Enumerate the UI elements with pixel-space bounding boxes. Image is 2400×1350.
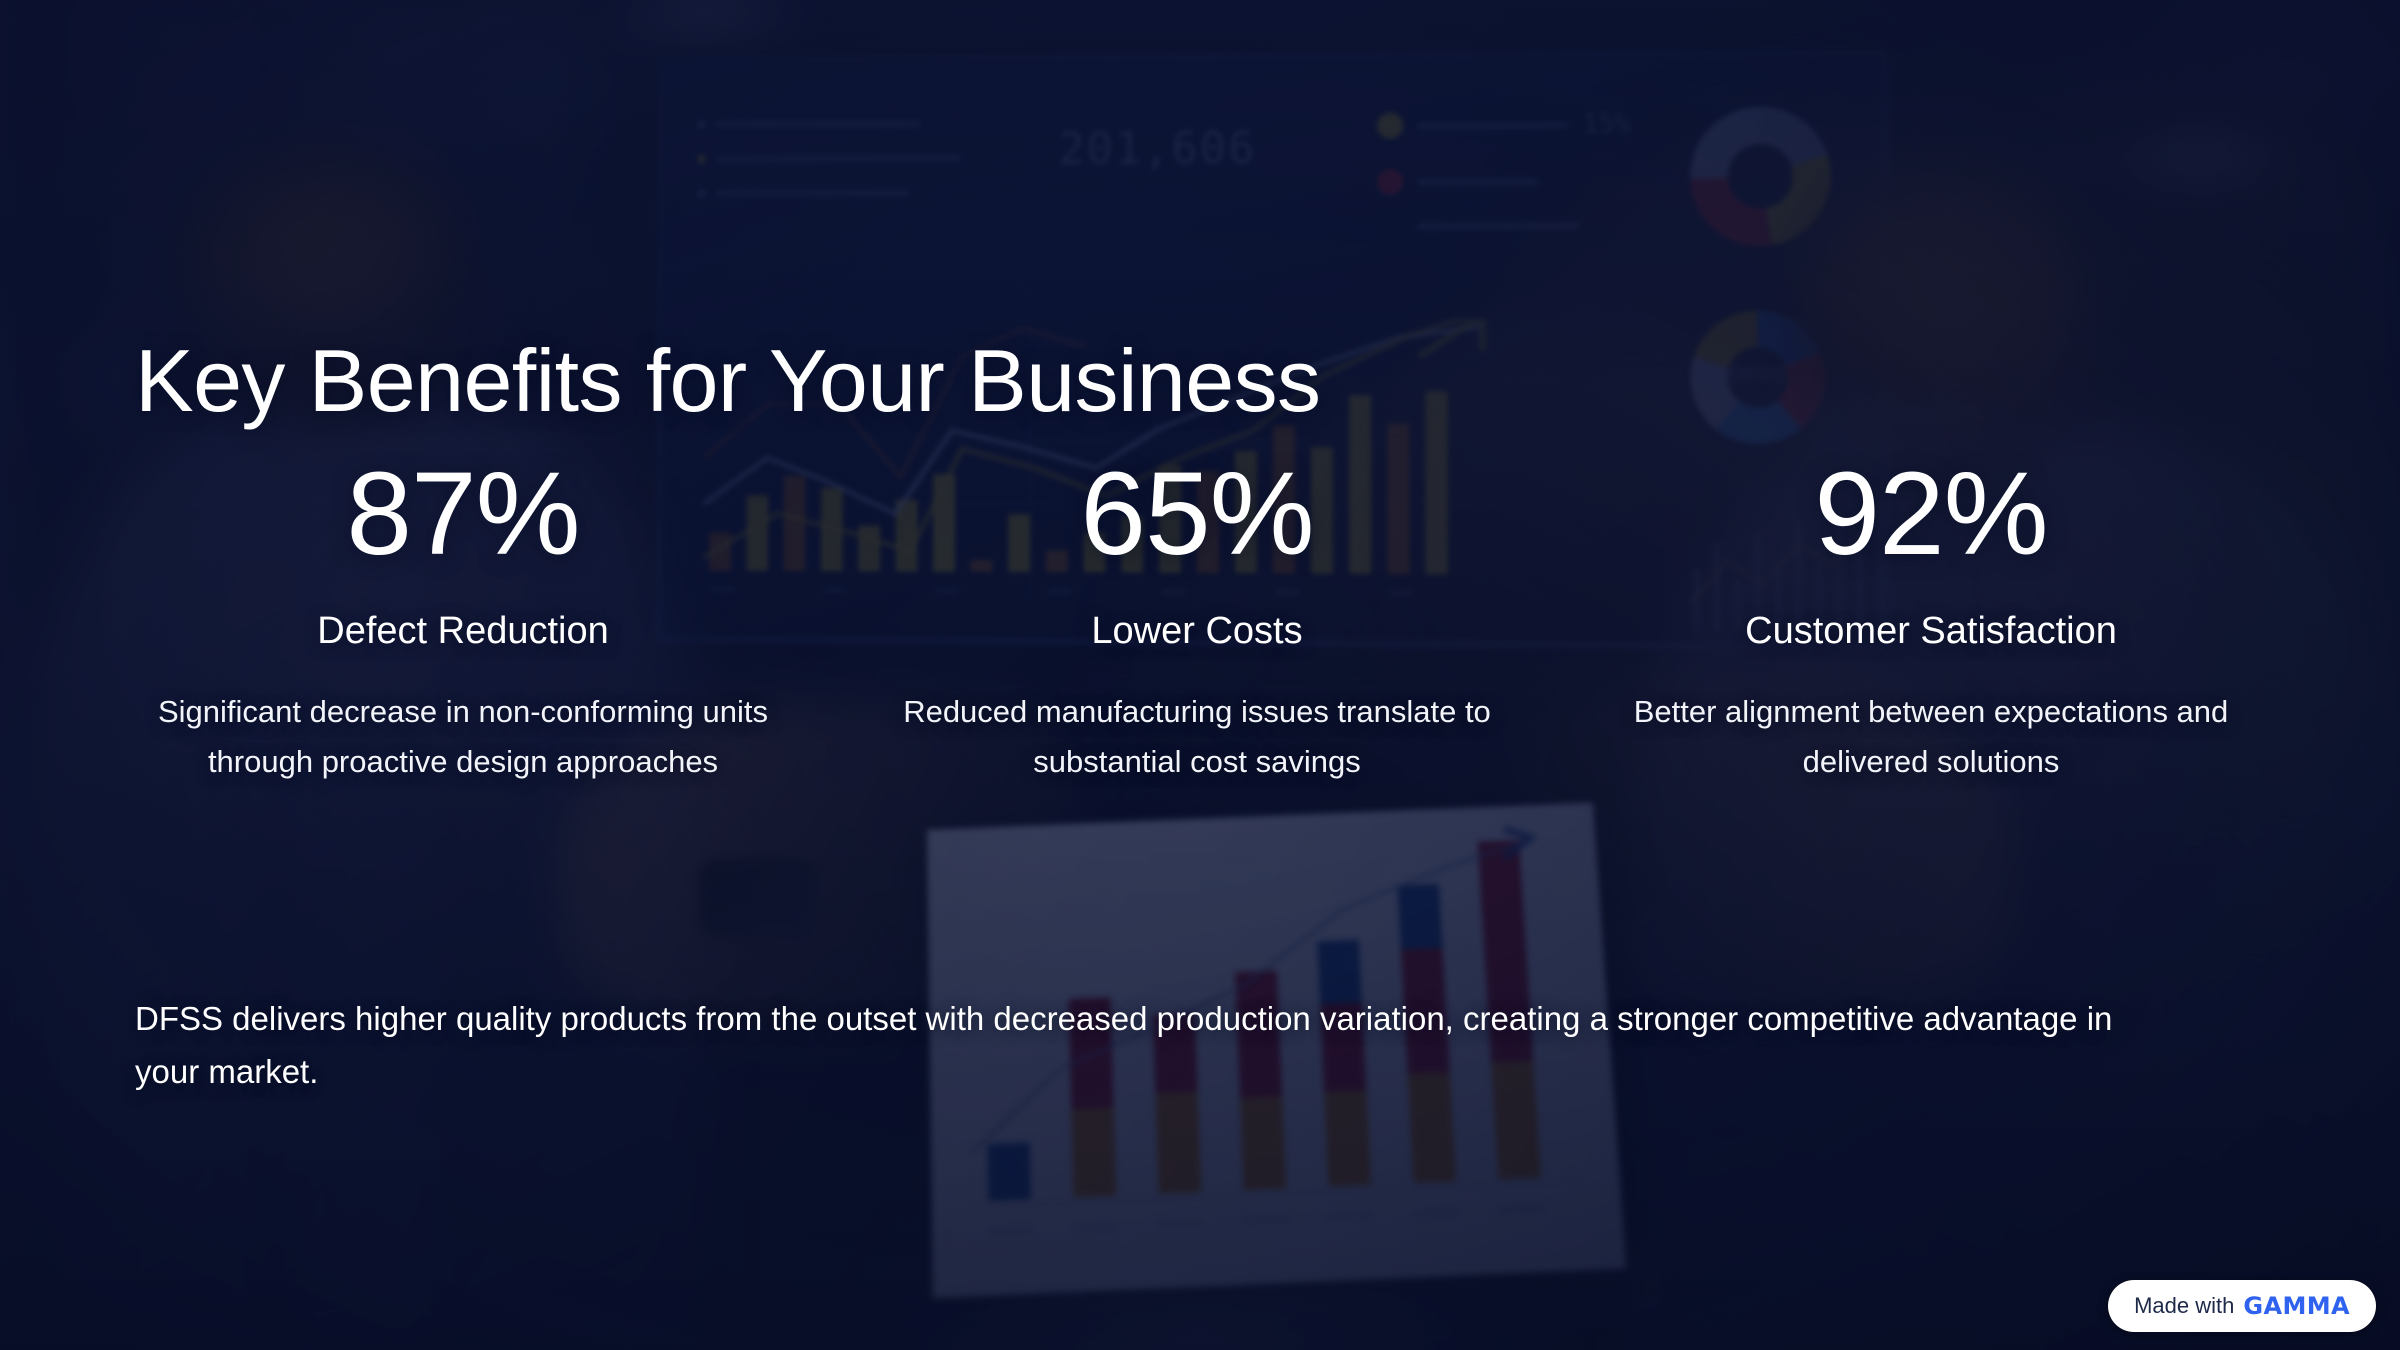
stat-value: 92% xyxy=(1603,455,2259,573)
presentation-slide: 201,606 15% DFSS. 044 xyxy=(0,0,2400,1350)
stat-description: Reduced manufacturing issues translate t… xyxy=(869,687,1525,787)
stat-label: Defect Reduction xyxy=(135,609,791,655)
made-with-gamma-badge[interactable]: Made with GAMMA xyxy=(2108,1280,2376,1332)
summary-paragraph: DFSS delivers higher quality products fr… xyxy=(135,993,2165,1099)
stat-label: Lower Costs xyxy=(869,609,1525,655)
stat-card-lower-costs: 65% Lower Costs Reduced manufacturing is… xyxy=(869,455,1525,787)
stat-value: 87% xyxy=(135,455,791,573)
slide-content: Key Benefits for Your Business 87% Defec… xyxy=(0,0,2400,1350)
stat-card-defect-reduction: 87% Defect Reduction Significant decreas… xyxy=(135,455,791,787)
stat-label: Customer Satisfaction xyxy=(1603,609,2259,655)
page-title: Key Benefits for Your Business xyxy=(135,335,1320,427)
stat-card-customer-satisfaction: 92% Customer Satisfaction Better alignme… xyxy=(1603,455,2259,787)
made-with-label: Made with xyxy=(2134,1293,2234,1319)
stats-row: 87% Defect Reduction Significant decreas… xyxy=(135,455,2260,787)
stat-description: Significant decrease in non-conforming u… xyxy=(135,687,791,787)
stat-value: 65% xyxy=(869,455,1525,573)
gamma-brand-label: GAMMA xyxy=(2243,1292,2350,1320)
stat-description: Better alignment between expectations an… xyxy=(1603,687,2259,787)
